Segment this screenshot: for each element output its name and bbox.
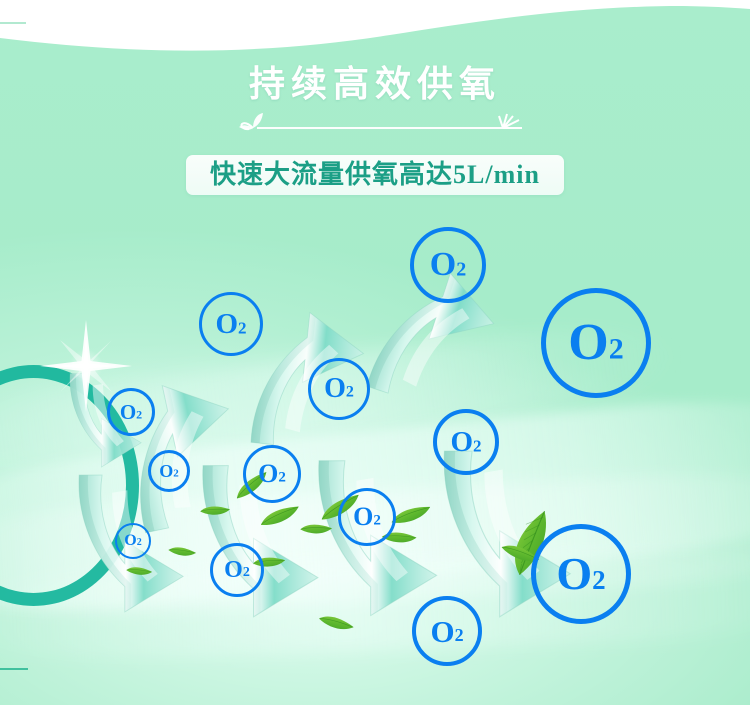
o2-label-main: O (450, 428, 473, 457)
o2-label-sub: 2 (373, 513, 381, 528)
subtitle-banner: 快速大流量供氧高达5L/min (186, 155, 564, 195)
o2-label-main: O (124, 533, 136, 549)
o2-label-main: O (556, 551, 592, 597)
o2-label-sub: 2 (278, 470, 286, 485)
o2-badge: O2 (243, 445, 301, 503)
o2-label-sub: 2 (455, 626, 464, 644)
o2-label-sub: 2 (473, 437, 482, 454)
o2-label-sub: 2 (243, 566, 250, 580)
o2-label-main: O (224, 558, 243, 582)
o2-badge: O2 (433, 409, 499, 475)
o2-label-sub: 2 (592, 566, 606, 593)
leaf-divider (231, 104, 531, 134)
o2-label-main: O (430, 248, 456, 282)
promo-banner: O2O2O2O2O2O2O2O2O2O2O2O2O2 持续高效供氧 快速大流量供… (0, 0, 750, 705)
o2-label-main: O (159, 462, 173, 480)
o2-badge: O2 (148, 450, 190, 492)
o2-badge: O2 (410, 227, 486, 303)
o2-label-main: O (215, 310, 238, 339)
o2-label-main: O (568, 317, 608, 369)
corner-rule (0, 668, 28, 670)
o2-label-sub: 2 (609, 335, 624, 365)
o2-badge: O2 (541, 288, 651, 398)
o2-label-sub: 2 (137, 538, 142, 548)
o2-badge: O2 (412, 596, 482, 666)
o2-label-sub: 2 (173, 468, 179, 479)
o2-badge: O2 (338, 488, 396, 546)
o2-badge: O2 (531, 524, 631, 624)
o2-badge: O2 (115, 523, 151, 559)
o2-badge: O2 (308, 358, 370, 420)
o2-label-sub: 2 (136, 409, 142, 421)
o2-badge: O2 (199, 292, 263, 356)
o2-label-main: O (430, 616, 454, 647)
o2-label-main: O (353, 504, 373, 530)
page-title: 持续高效供氧 (0, 66, 750, 102)
o2-label-main: O (258, 461, 278, 487)
o2-badge: O2 (107, 388, 155, 436)
o2-label-sub: 2 (346, 385, 354, 401)
o2-label-main: O (324, 375, 346, 403)
o2-label-sub: 2 (456, 259, 466, 279)
o2-label-sub: 2 (238, 319, 247, 336)
subtitle-text: 快速大流量供氧高达5L/min (186, 155, 564, 195)
o2-badge: O2 (210, 543, 264, 597)
o2-label-main: O (120, 402, 136, 423)
